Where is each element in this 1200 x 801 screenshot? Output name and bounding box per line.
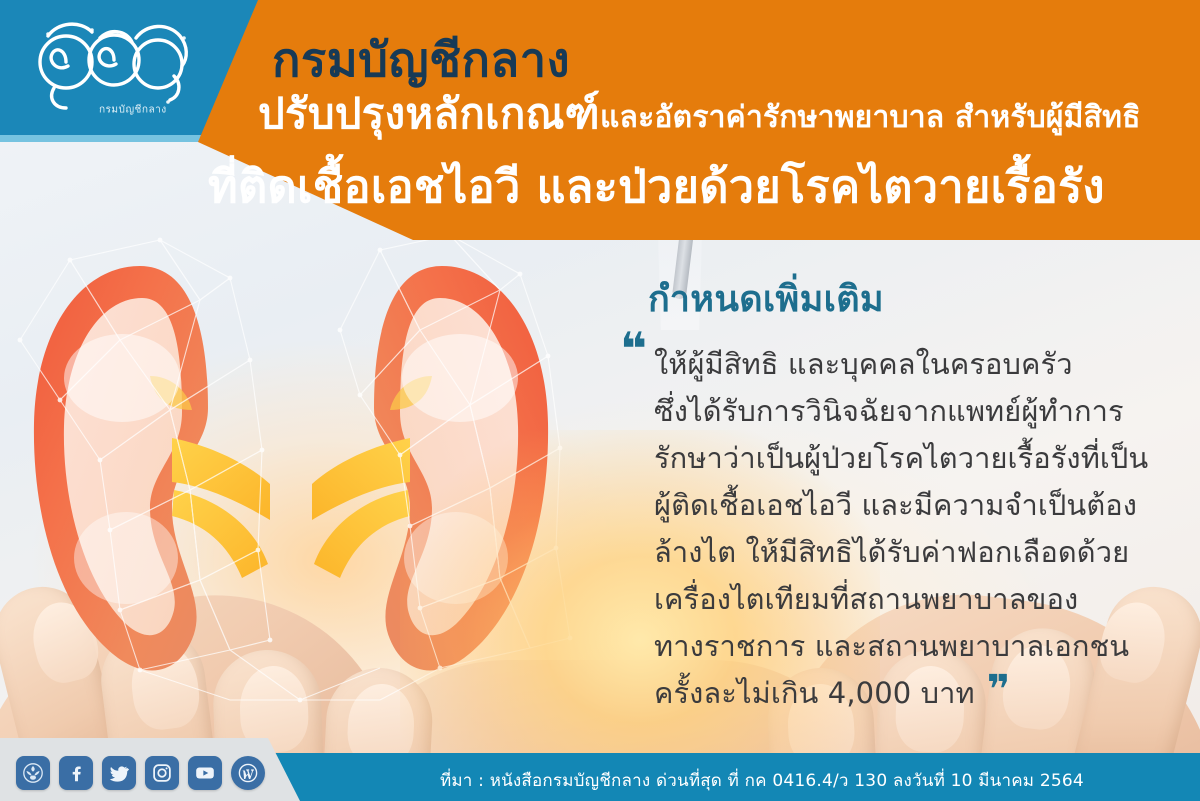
source-note: ที่มา : หนังสือกรมบัญชีกลาง ด่วนที่สุด ท… bbox=[440, 767, 1084, 794]
youtube-icon[interactable] bbox=[188, 756, 222, 790]
quote-body: ให้ผู้มีสิทธิ และบุคคลในครอบครัว ซึ่งได้… bbox=[654, 341, 1182, 717]
headline-line-3: ที่ติดเชื้อเอชไอวี และป่วยด้วยโรคไตวายเร… bbox=[208, 150, 1105, 222]
quote-line: เครื่องไตเทียมที่สถานพยาบาลของ bbox=[654, 576, 1182, 623]
quote-line: ทางราชการ และสถานพยาบาลเอกชน bbox=[654, 623, 1182, 670]
instagram-icon[interactable] bbox=[145, 756, 179, 790]
kidney-left-icon bbox=[22, 258, 272, 688]
quote-close-icon: ❞ bbox=[987, 678, 1007, 702]
twitter-icon[interactable] bbox=[102, 756, 136, 790]
quote-open-icon: ❝ bbox=[620, 336, 644, 364]
quote-line-amount: ครั้งละไม่เกิน 4,000 บาท ❞ bbox=[654, 670, 1182, 717]
quote-line: ซึ่งได้รับการวินิจฉัยจากแพทย์ผู้ทำการ bbox=[654, 388, 1182, 435]
infographic-poster: กรมบัญชีกลาง กรมบัญชีกลาง ปรับปรุงหลักเก… bbox=[0, 0, 1200, 801]
panel-title: กำหนดเพิ่มเติม bbox=[648, 270, 1182, 327]
content-panel: กำหนดเพิ่มเติม ❝ ให้ผู้มีสิทธิ และบุคคลใ… bbox=[620, 270, 1182, 717]
quote-line: ให้ผู้มีสิทธิ และบุคคลในครอบครัว bbox=[654, 341, 1182, 388]
headline-line-1: กรมบัญชีกลาง bbox=[272, 22, 570, 97]
quote-line: รักษาว่าเป็นผู้ป่วยโรคไตวายเรื้อรังที่เป… bbox=[654, 435, 1182, 482]
headline-line-2: ปรับปรุงหลักเกณฑ์ และอัตราค่ารักษาพยาบาล… bbox=[258, 93, 1141, 135]
amount-text: ครั้งละไม่เกิน 4,000 บาท bbox=[654, 670, 975, 717]
social-links[interactable] bbox=[16, 756, 265, 790]
wordpress-icon[interactable] bbox=[231, 756, 265, 790]
quote-line: ผู้ติดเชื้อเอชไอวี และมีความจำเป็นต้อง bbox=[654, 482, 1182, 529]
headline-line-2-secondary: และอัตราค่ารักษาพยาบาล สำหรับผู้มีสิทธิ bbox=[600, 103, 1141, 135]
headline-text-group: กรมบัญชีกลาง ปรับปรุงหลักเกณฑ์ และอัตราค… bbox=[0, 0, 1200, 240]
headline-line-2-primary: ปรับปรุงหลักเกณฑ์ bbox=[258, 93, 600, 135]
facebook-icon[interactable] bbox=[59, 756, 93, 790]
government-seal-icon[interactable] bbox=[16, 756, 50, 790]
quote-line: ล้างไต ให้มีสิทธิได้รับค่าฟอกเลือดด้วย bbox=[654, 529, 1182, 576]
